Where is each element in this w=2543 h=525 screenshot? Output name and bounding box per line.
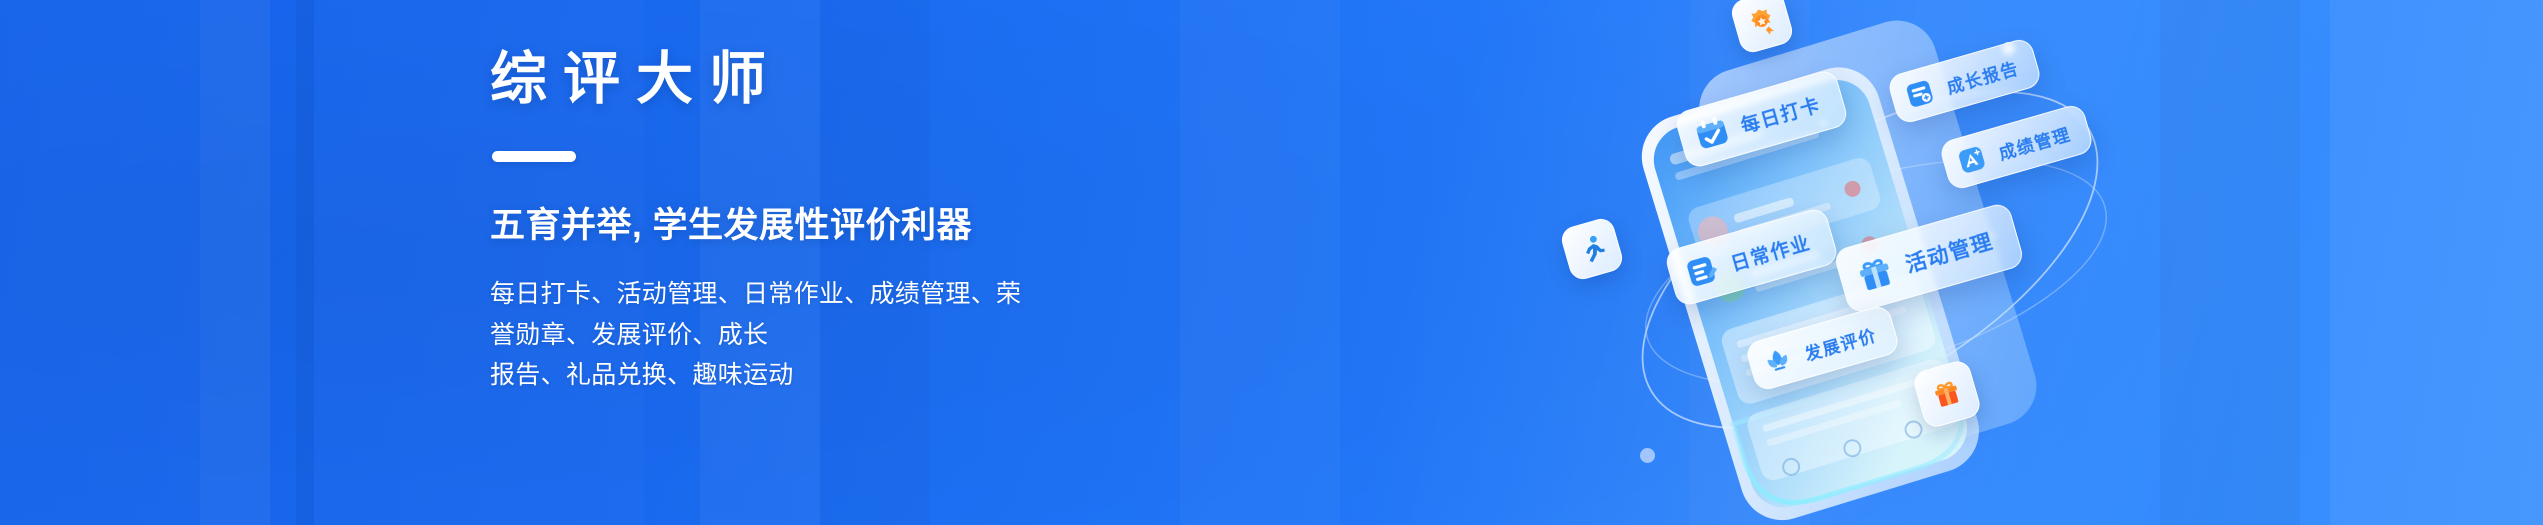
gift-exchange-icon (1927, 374, 1967, 414)
banner-copy: 综评大师 五育并举, 学生发展性评价利器 每日打卡、活动管理、日常作业、成绩管理… (490, 46, 1450, 396)
grade-a-icon (1953, 141, 1990, 178)
feature-card-label: 活动管理 (1902, 225, 1997, 279)
feature-card-label: 成长报告 (1943, 54, 2021, 98)
title-divider (492, 151, 576, 162)
homework-pen-icon (1681, 250, 1723, 292)
page-title: 综评大师 (490, 46, 1450, 113)
promo-banner: 综评大师 五育并举, 学生发展性评价利器 每日打卡、活动管理、日常作业、成绩管理… (0, 0, 2543, 525)
feature-card-label: 每日打卡 (1737, 89, 1823, 138)
feature-card-label: 成绩管理 (1995, 120, 2073, 164)
report-document-icon (1901, 75, 1938, 112)
calendar-check-icon (1691, 112, 1733, 154)
running-person-icon (1572, 229, 1612, 269)
description-line-1: 每日打卡、活动管理、日常作业、成绩管理、荣誉勋章、发展评价、成长 (490, 280, 1021, 349)
hero-illustration: 每日打卡 成长报告 成绩管理 (1520, 0, 2220, 525)
feature-card-label: 日常作业 (1727, 227, 1813, 276)
banner-description: 每日打卡、活动管理、日常作业、成绩管理、荣誉勋章、发展评价、成长 报告、礼品兑换… (490, 274, 1025, 396)
gift-blue-icon (1852, 250, 1899, 297)
lotus-icon (1759, 342, 1796, 379)
feature-card-label: 发展评价 (1801, 321, 1879, 365)
banner-subtitle: 五育并举, 学生发展性评价利器 (490, 204, 1450, 248)
honor-medal-icon (1742, 2, 1782, 42)
decor-dot-medium (1640, 448, 1655, 463)
description-line-2: 报告、礼品兑换、趣味运动 (490, 361, 794, 389)
